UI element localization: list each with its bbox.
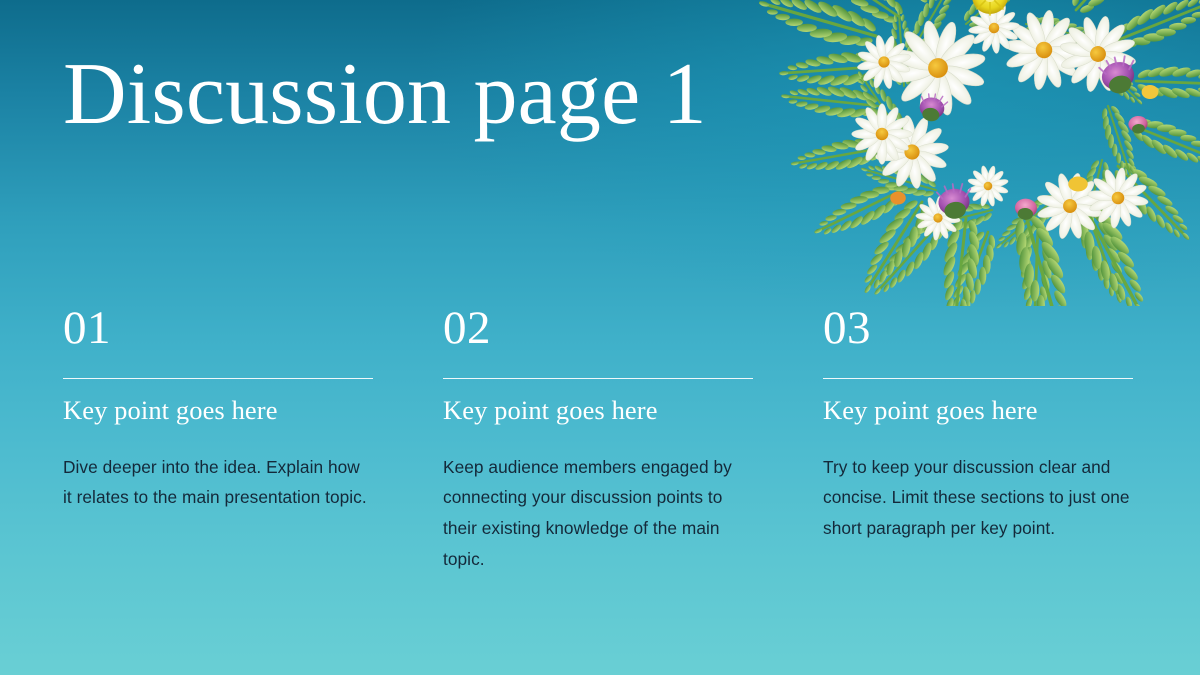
key-point-heading: Key point goes here [443,395,753,427]
key-point-number: 02 [443,305,753,352]
key-point-heading: Key point goes here [63,395,373,427]
key-point-divider [63,378,373,379]
key-points-columns: 01 Key point goes here Dive deeper into … [63,305,1133,574]
key-point-number: 01 [63,305,373,352]
slide-title: Discussion page 1 [63,48,763,141]
key-point-column-3: 03 Key point goes here Try to keep your … [823,305,1133,574]
presentation-slide: Discussion page 1 01 Key point goes here… [0,0,1200,675]
key-point-number: 03 [823,305,1133,352]
key-point-body: Keep audience members engaged by connect… [443,452,753,574]
key-point-divider [823,378,1133,379]
key-point-divider [443,378,753,379]
key-point-body: Try to keep your discussion clear and co… [823,452,1133,544]
key-point-column-2: 02 Key point goes here Keep audience mem… [443,305,753,574]
floral-wreath-image [726,0,1200,306]
key-point-column-1: 01 Key point goes here Dive deeper into … [63,305,373,574]
key-point-body: Dive deeper into the idea. Explain how i… [63,452,373,513]
key-point-heading: Key point goes here [823,395,1133,427]
